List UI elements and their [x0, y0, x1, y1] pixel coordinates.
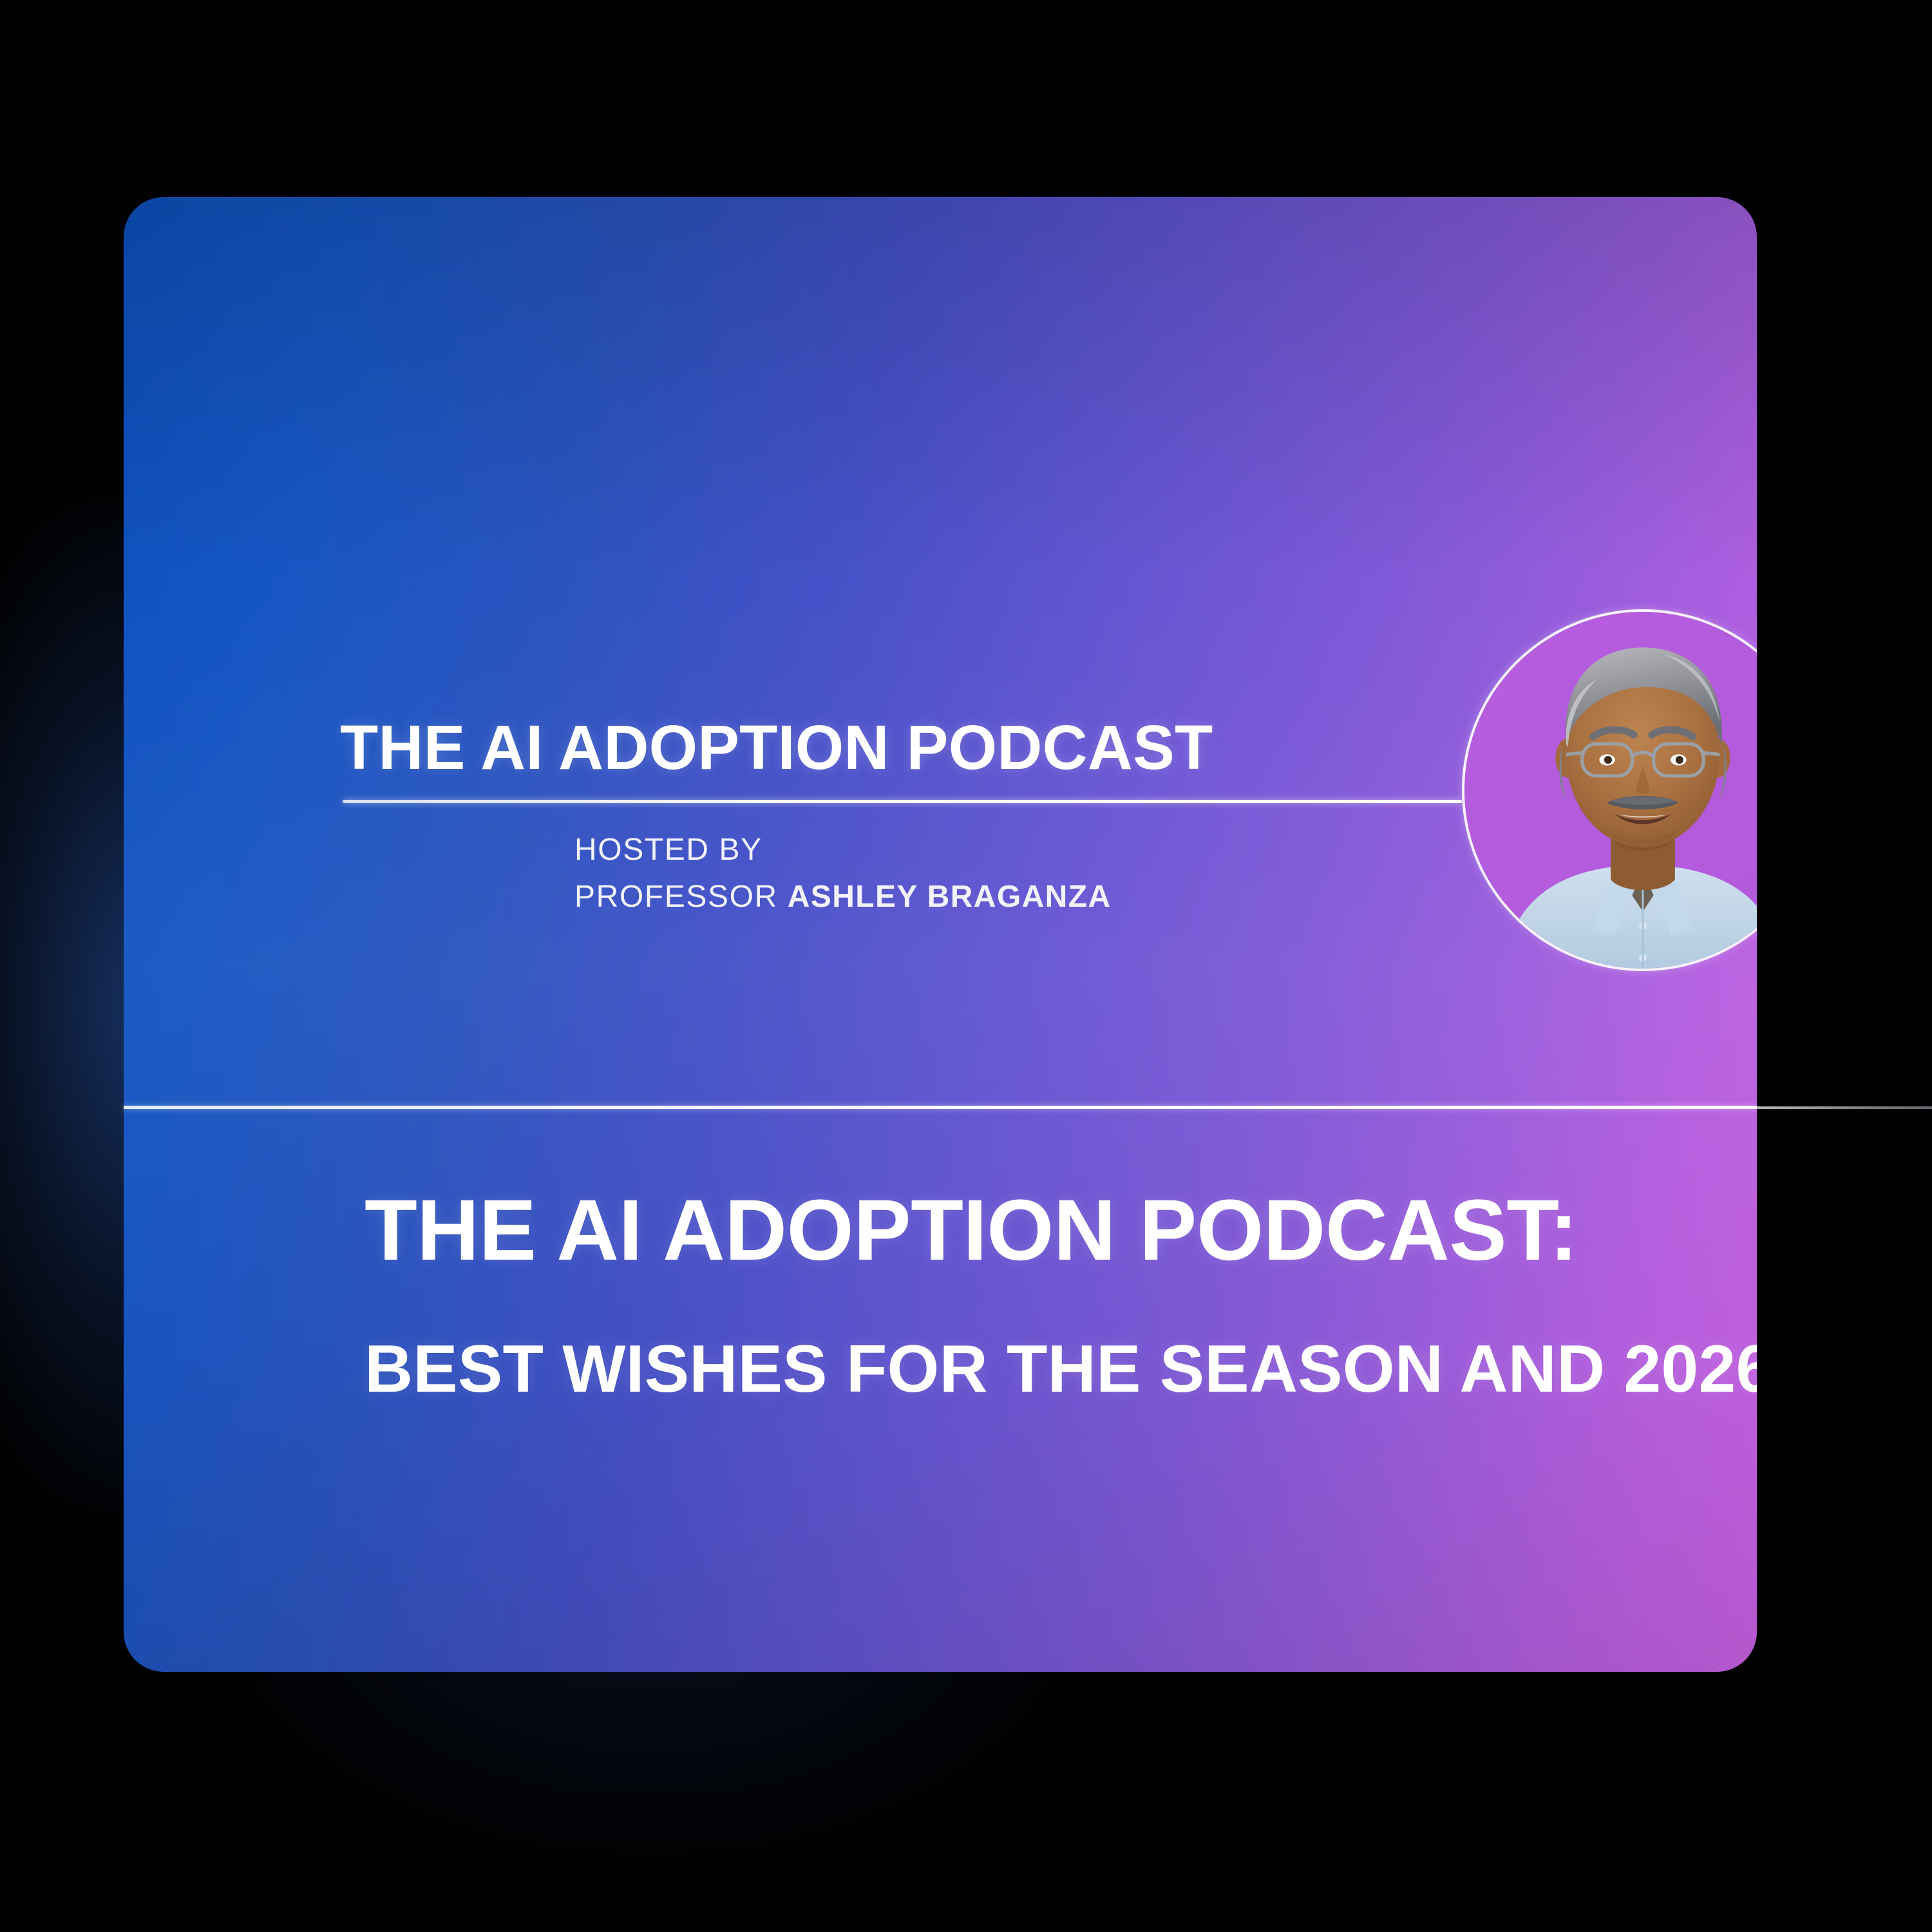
episode-title-divider-extension — [1757, 1106, 1932, 1109]
header-divider-line — [343, 800, 1462, 803]
host-name: ASHLEY BRAGANZA — [788, 880, 1112, 914]
hosted-by-label: HOSTED BY — [574, 835, 762, 866]
episode-title-divider — [124, 1106, 1757, 1109]
host-name-line: PROFESSOR ASHLEY BRAGANZA — [574, 882, 1112, 913]
podcast-episode-card: THE AI ADOPTION PODCAST HOSTED BY PROFES… — [124, 197, 1757, 1672]
host-avatar — [1462, 609, 1757, 971]
card-content: THE AI ADOPTION PODCAST HOSTED BY PROFES… — [124, 197, 1757, 1672]
episode-title-line-1: THE AI ADOPTION PODCAST: — [365, 1188, 1578, 1274]
episode-title-line-2: BEST WISHES FOR THE SEASON AND 2026 — [365, 1336, 1757, 1403]
show-title: THE AI ADOPTION PODCAST — [340, 716, 1213, 779]
host-title-prefix: PROFESSOR — [574, 880, 788, 914]
screenshot-stage: THE AI ADOPTION PODCAST HOSTED BY PROFES… — [0, 0, 1932, 1932]
host-portrait-photo — [1464, 612, 1757, 969]
